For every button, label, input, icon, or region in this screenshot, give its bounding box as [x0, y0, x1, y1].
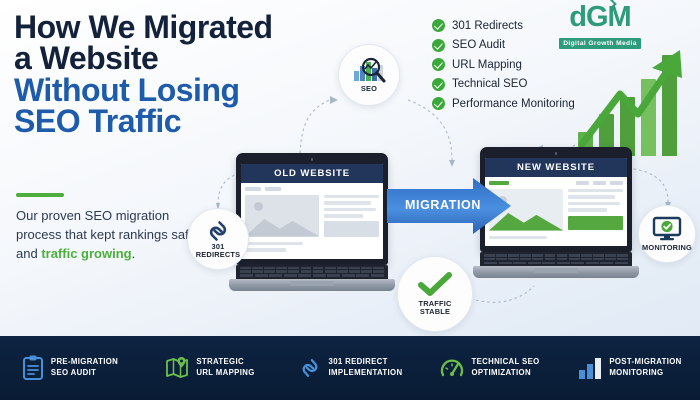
footer-step-text: POST-MIGRATION MONITORING: [609, 357, 681, 379]
check-circle-icon: [432, 39, 445, 52]
text-line: [568, 195, 615, 199]
accent-divider: [16, 193, 64, 197]
nav-chip: [593, 181, 606, 185]
trackpad: [534, 268, 577, 273]
checklist-item: URL Mapping: [432, 55, 575, 75]
footer-step-line1: PRE-MIGRATION: [51, 357, 118, 368]
headline-line-3: Without Losing: [14, 75, 292, 106]
laptop-keyboard: [236, 265, 388, 279]
checklist-label: Performance Monitoring: [452, 98, 575, 110]
nav-chip: [265, 187, 281, 191]
badge-monitoring: MONITORING: [638, 205, 696, 263]
footer-step-technical-seo-optimization[interactable]: TECHNICAL SEO OPTIMIZATION: [420, 356, 560, 380]
headline-line-2: a Website: [14, 43, 292, 74]
text-line: [324, 195, 379, 199]
check-circle-icon: [432, 97, 445, 110]
footer-step-line1: TECHNICAL SEO: [471, 357, 539, 368]
migration-arrow: MIGRATION: [387, 178, 511, 234]
checklist-item: Technical SEO: [432, 75, 575, 95]
checklist-label: 301 Redirects: [452, 20, 523, 32]
old-website-screen: OLD WEBSITE: [241, 164, 383, 259]
footer-step-pre-migration-seo-audit[interactable]: PRE-MIGRATION SEO AUDIT: [0, 355, 140, 381]
key-row: [240, 267, 384, 270]
trackpad: [290, 281, 333, 286]
logo-mark-text: dGM: [569, 1, 630, 33]
footer-step-text: 301 REDIRECT IMPLEMENTATION: [329, 357, 403, 379]
magnifier-chart-icon: [352, 57, 386, 85]
badge-301-line2: REDIRECTS: [196, 251, 241, 259]
speedometer-icon: [440, 356, 464, 380]
clipboard-icon: [22, 355, 44, 381]
headline-line-1: How We Migrated: [14, 12, 292, 43]
cta-block: [568, 216, 623, 230]
laptop-base: [229, 279, 395, 291]
infographic-canvas: How We Migrated a Website Without Losing…: [0, 0, 700, 400]
footer-step-line2: OPTIMIZATION: [471, 368, 539, 379]
check-circle-icon: [432, 58, 445, 71]
text-line: [489, 236, 547, 240]
checklist-label: SEO Audit: [452, 39, 505, 51]
footer-step-line2: IMPLEMENTATION: [329, 368, 403, 379]
old-website-body: [241, 183, 383, 259]
badge-seo: SEO: [338, 44, 400, 106]
monitor-check-icon: [652, 216, 682, 242]
webcam-dot: [555, 152, 558, 155]
subtitle-part-2: .: [132, 246, 136, 261]
bar-chart-icon: [578, 357, 602, 379]
badge-monitoring-label: MONITORING: [642, 244, 692, 252]
footer-step-line2: URL MAPPING: [196, 368, 254, 379]
chain-link-icon: [205, 219, 231, 243]
checklist-item: Performance Monitoring: [432, 94, 575, 114]
text-line: [568, 189, 623, 193]
text-line: [245, 248, 286, 252]
content-left: [245, 195, 319, 255]
text-line: [568, 202, 620, 206]
footer-step-line2: MONITORING: [609, 368, 681, 379]
laptop-base: [473, 266, 639, 278]
badge-seo-label: SEO: [361, 85, 377, 93]
growth-bar-chart: [576, 46, 692, 156]
checklist-label: Technical SEO: [452, 78, 527, 90]
text-line: [245, 242, 303, 246]
old-website-title: OLD WEBSITE: [241, 164, 383, 183]
sun-shape: [254, 202, 263, 211]
footer-step-line1: POST-MIGRATION: [609, 357, 681, 368]
trend-arrow-icon: [576, 46, 692, 156]
key-row: [240, 274, 384, 277]
key-row: [484, 258, 628, 261]
logo-wordmark: dGM: [569, 3, 630, 32]
text-line: [324, 201, 371, 205]
badge-traffic-line2: STABLE: [420, 308, 450, 316]
subtitle-highlight: traffic growing: [41, 246, 131, 261]
process-steps-footer: PRE-MIGRATION SEO AUDIT STRATEGIC URL MA…: [0, 336, 700, 400]
footer-step-line1: 301 REDIRECT: [329, 357, 403, 368]
text-line: [324, 214, 362, 218]
content-columns: [245, 195, 379, 255]
new-website-title: NEW WEBSITE: [485, 158, 627, 177]
nav-chip: [245, 187, 261, 191]
content-right: [324, 195, 379, 255]
badge-traffic-stable: TRAFFIC STABLE: [397, 256, 473, 332]
footer-step-text: TECHNICAL SEO OPTIMIZATION: [471, 357, 539, 379]
check-circle-icon: [432, 19, 445, 32]
text-line: [568, 208, 606, 212]
text-line: [324, 208, 376, 212]
badge-301-redirects: 301 REDIRECTS: [187, 208, 249, 270]
key-row: [484, 254, 628, 257]
old-website-laptop: OLD WEBSITE: [236, 153, 388, 291]
content-right: [568, 189, 623, 243]
nav-chip: [576, 181, 589, 185]
footer-step-301-redirect-implementation[interactable]: 301 REDIRECT IMPLEMENTATION: [280, 356, 420, 380]
headline-line-4: SEO Traffic: [14, 106, 292, 137]
footer-step-post-migration-monitoring[interactable]: POST-MIGRATION MONITORING: [560, 357, 700, 379]
footer-step-text: PRE-MIGRATION SEO AUDIT: [51, 357, 118, 379]
footer-step-strategic-url-mapping[interactable]: STRATEGIC URL MAPPING: [140, 356, 280, 380]
footer-step-text: STRATEGIC URL MAPPING: [196, 357, 254, 379]
nav-chip-row: [245, 187, 379, 191]
cta-block: [324, 221, 379, 237]
key-row: [240, 270, 384, 273]
image-placeholder: [245, 195, 319, 237]
key-row: [484, 262, 628, 265]
map-pin-icon: [165, 356, 189, 380]
laptop-keyboard: [480, 252, 632, 266]
footer-step-line1: STRATEGIC: [196, 357, 254, 368]
webcam-dot: [311, 158, 314, 161]
subtitle-text: Our proven SEO migration process that ke…: [16, 207, 206, 264]
headline-block: How We Migrated a Website Without Losing…: [14, 12, 292, 137]
check-mark-icon: [418, 272, 452, 298]
nav-chip: [610, 181, 623, 185]
footer-step-line2: SEO AUDIT: [51, 368, 118, 379]
checklist-label: URL Mapping: [452, 59, 522, 71]
mountain-shape: [245, 212, 319, 236]
migration-label: MIGRATION: [405, 198, 481, 212]
chain-link-icon: [298, 356, 322, 380]
laptop-lid: OLD WEBSITE: [236, 153, 388, 265]
check-circle-icon: [432, 78, 445, 91]
brand-logo: dGM Digital Growth Media: [545, 3, 655, 50]
